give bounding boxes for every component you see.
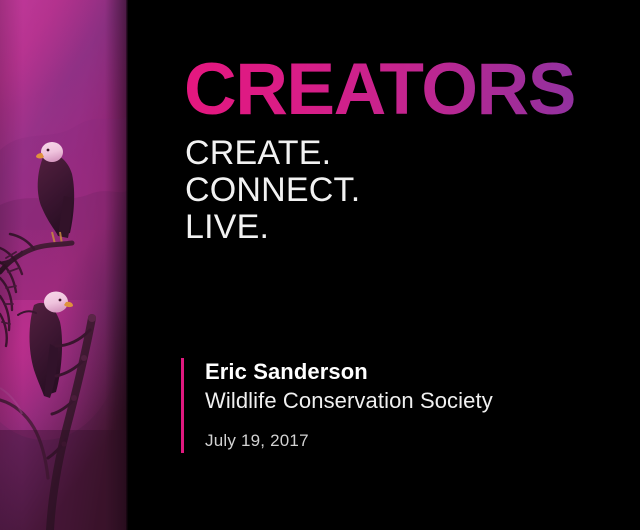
- presentation-slide: CREATORS CREATE. CONNECT. LIVE. Eric San…: [0, 0, 640, 530]
- tagline-line-3: LIVE.: [185, 209, 360, 246]
- speaker-block: Eric Sanderson Wildlife Conservation Soc…: [181, 357, 493, 451]
- speaker-name: Eric Sanderson: [205, 357, 493, 386]
- tagline-line-1: CREATE.: [185, 135, 360, 172]
- tagline-line-2: CONNECT.: [185, 172, 360, 209]
- slide-tagline: CREATE. CONNECT. LIVE.: [185, 135, 360, 246]
- speaker-date: July 19, 2017: [205, 430, 493, 451]
- slide-content: CREATORS CREATE. CONNECT. LIVE. Eric San…: [128, 0, 640, 530]
- eagle-photo-illustration: [0, 0, 128, 530]
- speaker-accent-rule: [181, 358, 184, 453]
- speaker-organization: Wildlife Conservation Society: [205, 386, 493, 416]
- eagle-photo: [0, 0, 128, 530]
- slide-headline: CREATORS: [184, 53, 575, 126]
